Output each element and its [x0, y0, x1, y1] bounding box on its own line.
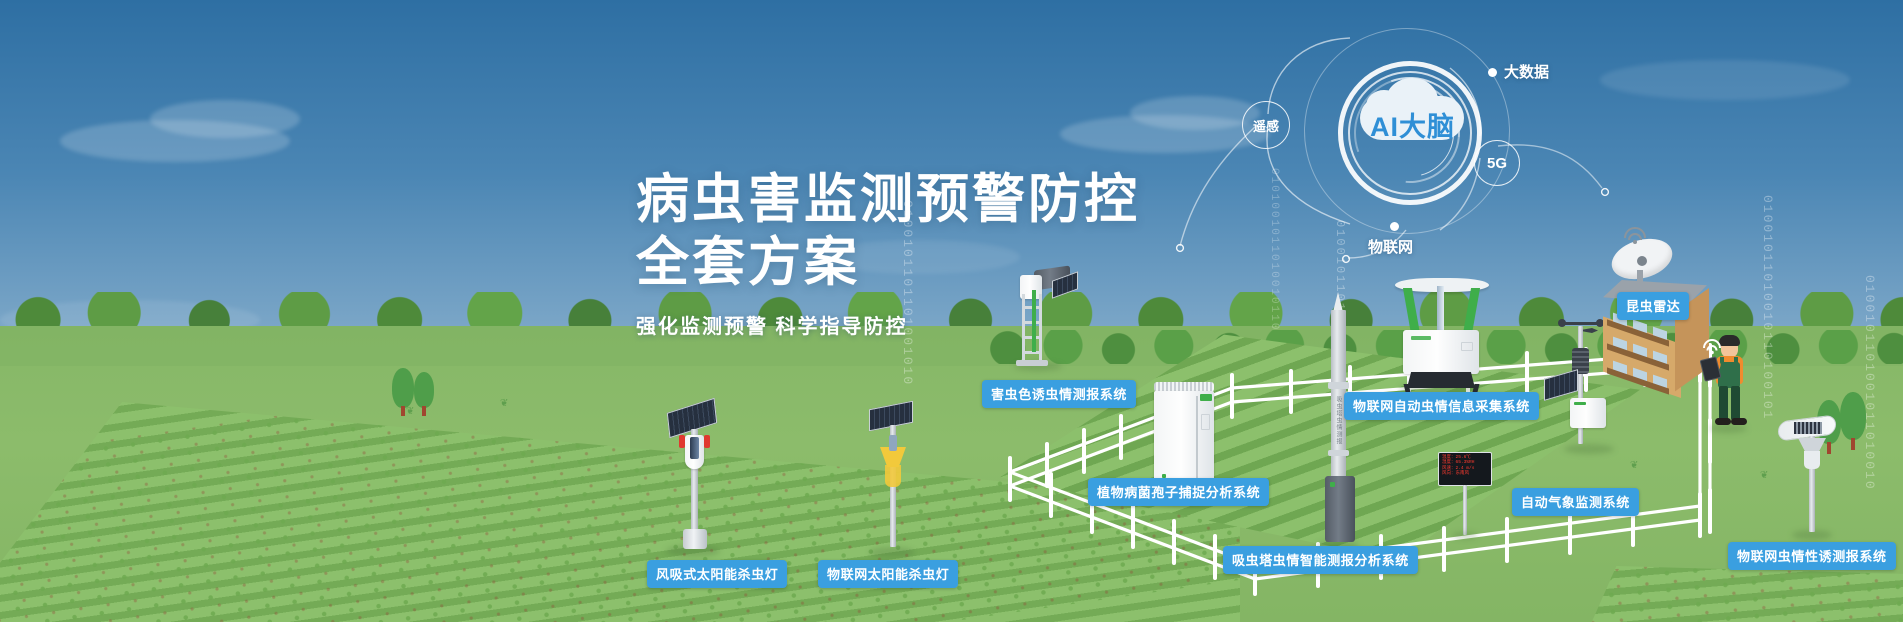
cabinet-door-seam — [1196, 396, 1198, 490]
person-overall-strap — [1734, 357, 1738, 367]
lamp-collector — [683, 529, 707, 549]
cabinet-vent — [1201, 414, 1210, 430]
field-worker-figure — [1703, 332, 1763, 432]
device-shadow — [1564, 444, 1614, 454]
person-shoe — [1731, 418, 1747, 425]
tag-color-trap[interactable]: 害虫色诱虫情测报系统 — [982, 380, 1136, 408]
weather-led-board-assembly[interactable]: 温度：25.6℃ 湿度：65.3%RH 风速：2.4 m/s 风向：东南风 — [1438, 452, 1498, 538]
wifi-signal-icon — [1701, 336, 1723, 354]
satellite-dish-receiver — [1637, 256, 1647, 266]
cabinet-accent-bar — [1200, 394, 1212, 401]
tree-trunk — [422, 406, 426, 416]
weather-box-logo — [1574, 402, 1586, 405]
lamp-accent-right — [704, 435, 710, 448]
device-shadow — [869, 547, 915, 558]
tag-iot-solar-lamp[interactable]: 物联网太阳能杀虫灯 — [818, 560, 958, 588]
anemometer-cups — [1562, 322, 1600, 325]
wifi-signal-icon — [1621, 222, 1649, 244]
tree-trunk — [1851, 438, 1855, 450]
tag-insect-radar[interactable]: 昆虫雷达 — [1617, 292, 1689, 320]
solar-panel — [1544, 369, 1578, 401]
person-leg — [1719, 386, 1728, 420]
collector-vent — [1461, 342, 1473, 351]
tower-base-logo — [1330, 482, 1335, 487]
trap-funnel — [1798, 438, 1826, 452]
lamp-tube — [690, 437, 699, 459]
tower-collar — [1328, 450, 1349, 456]
device-iot-pest-collector[interactable] — [1393, 280, 1503, 390]
led-board-pole — [1463, 485, 1467, 535]
device-iot-solar-lamp[interactable] — [865, 405, 925, 555]
satellite-dish-mount — [1637, 270, 1643, 286]
tag-wind-solar-lamp[interactable]: 风吸式太阳能杀虫灯 — [647, 560, 787, 588]
trap-strip — [1032, 290, 1036, 352]
grass-tuft: ❦ — [1760, 470, 1768, 481]
tag-suction-tower[interactable]: 吸虫塔虫情智能测报分析系统 — [1223, 546, 1418, 574]
tower-collar — [1328, 382, 1349, 389]
lamp-accent-left — [679, 435, 685, 448]
collector-cage-left — [1403, 288, 1420, 334]
led-line: 风向：东南风 — [1442, 471, 1488, 476]
tower-vertical-text: 吸虫塔虫情测报 — [1334, 396, 1343, 445]
device-suction-tower[interactable]: 吸虫塔虫情测报 — [1315, 300, 1365, 550]
collector-lamp-tube — [1437, 286, 1444, 334]
tag-pheromone-trap[interactable]: 物联网虫情性诱测报系统 — [1728, 542, 1896, 570]
trap-jar — [1804, 451, 1820, 469]
tower-base — [1016, 360, 1048, 366]
collector-logo — [1411, 336, 1431, 340]
anemometer-cup — [1558, 319, 1566, 327]
tag-iot-pest-collector[interactable]: 物联网自动虫情信息采集系统 — [1344, 392, 1539, 420]
trap-electrode-grid — [1794, 422, 1822, 434]
person-leg — [1731, 386, 1740, 420]
grass-tuft: ❦ — [1630, 460, 1638, 471]
tree-trunk — [401, 406, 405, 416]
device-color-trap[interactable] — [1010, 278, 1090, 368]
tree-canopy — [392, 368, 414, 408]
device-wind-solar-lamp[interactable] — [660, 405, 730, 555]
grass-tuft: ❦ — [406, 406, 414, 417]
person-shadow — [1709, 424, 1747, 433]
device-pheromone-trap[interactable] — [1778, 418, 1848, 538]
tree-canopy — [414, 372, 434, 408]
device-shadow — [1452, 532, 1478, 539]
collector-cage-right — [1463, 288, 1480, 334]
collector-pedestal — [1407, 372, 1475, 388]
tag-spore-capture[interactable]: 植物病菌孢子捕捉分析系统 — [1088, 478, 1269, 506]
person-shoe — [1715, 418, 1731, 425]
lamp-jar — [885, 465, 901, 487]
lamp-tube — [889, 435, 897, 451]
grass-tuft: ❦ — [500, 398, 508, 409]
scene-canvas: 病虫害监测预警防控 全套方案 强化监测预警 科学指导防控 01001011011… — [0, 0, 1903, 622]
tag-weather-station[interactable]: 自动气象监测系统 — [1512, 488, 1639, 516]
led-display: 温度：25.6℃ 湿度：65.3%RH 风速：2.4 m/s 风向：东南风 — [1438, 452, 1492, 486]
